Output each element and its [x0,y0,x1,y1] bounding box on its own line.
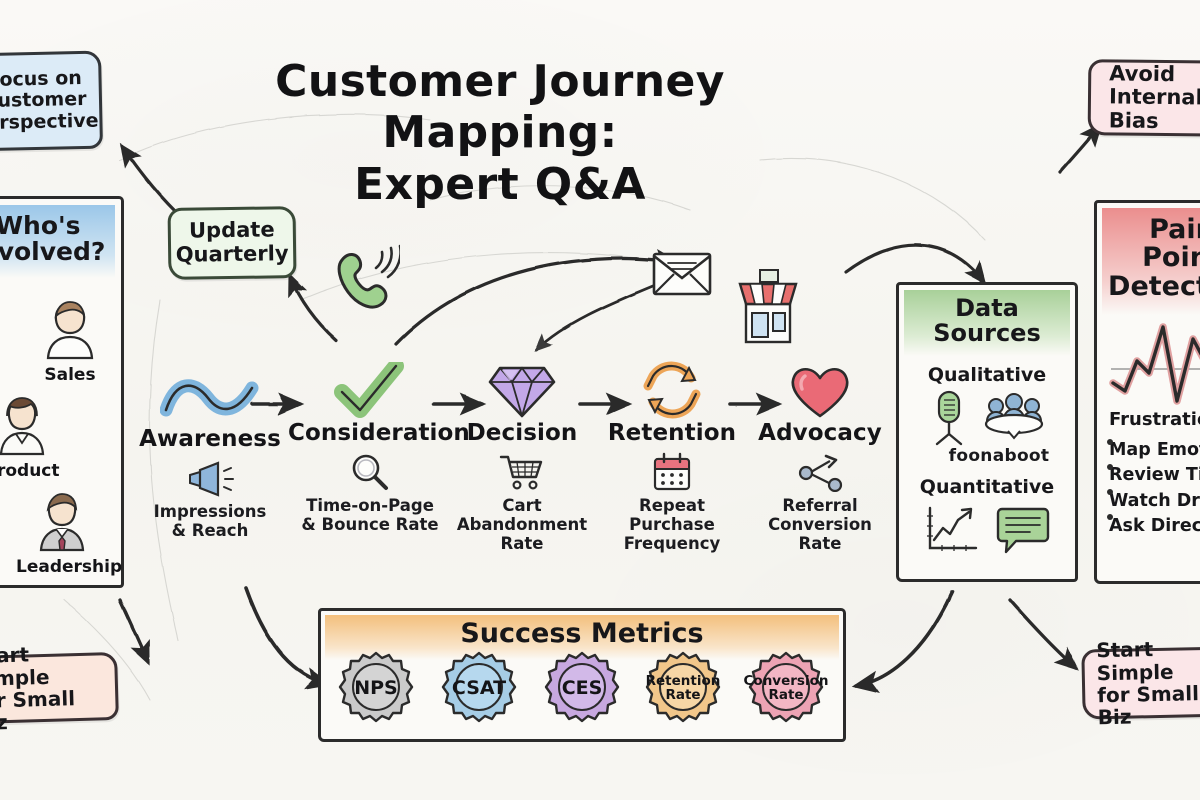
ringing-phone-icon [330,238,400,320]
pain-point-title-line-2: Detection [1108,273,1200,301]
page-title: Customer Journey Mapping: Expert Q&A [230,56,770,212]
checkmark-icon [288,362,452,420]
microphone-icon [928,390,970,448]
stage-metric: Repeat Purchase Frequency [592,496,752,553]
sticky-note-focus-customer-perspective[interactable]: Focus on Customer Perspective [0,51,103,152]
pain-point-item-list: Map Emotions Review Tickets Watch Drop-o… [1097,430,1200,540]
sticky-note-start-simple-right[interactable]: Start Simple for Small Biz [1081,646,1200,719]
sticky-note-text: Focus on Customer Perspective [0,68,99,134]
person-sales: Sales [24,294,116,385]
wave-icon [130,368,290,426]
metric-badge-ces[interactable]: CES [544,650,620,726]
pain-point-chart-caption: Frustration [1097,409,1200,430]
envelope-icon [650,244,714,300]
stage-metric: Cart Abandonment Rate [442,496,602,553]
journey-stage-decision: Decision Cart Abandonment Rate [442,362,602,553]
pain-point-panel: Pain Point Detection Frustration Map Emo… [1094,200,1200,584]
line-chart-icon [922,504,980,556]
metric-badge-conversion-rate[interactable]: Conversion Rate [748,650,824,726]
person-label: Product [0,461,68,481]
stage-name: Awareness [130,426,290,452]
pain-point-title: Pain Point Detection [1102,208,1200,315]
metric-badge-csat[interactable]: CSAT [441,650,517,726]
badge-label: CES [562,678,603,698]
calendar-icon [592,452,752,492]
who-involved-title: Who's Involved? [0,205,115,278]
sticky-note-text: Start Simple for Small Biz [0,641,116,734]
person-label: Sales [24,365,116,385]
stage-name: Advocacy [740,420,900,446]
stage-name: Decision [442,420,602,446]
person-icon [0,390,54,456]
sticky-note-avoid-internal-bias[interactable]: Avoid Internal Bias [1088,59,1200,137]
journey-stage-awareness: Awareness Impressions & Reach [130,368,290,540]
title-line-2: Expert Q&A [230,158,770,212]
stage-metric: Impressions & Reach [130,502,290,540]
pain-point-title-line-1: Pain Point [1108,216,1200,273]
pain-point-item: Watch Drop-offs [1109,489,1200,514]
storefront-icon [734,268,802,346]
whiteboard-canvas: Customer Journey Mapping: Expert Q&A Foc… [0,0,1200,800]
journey-stage-retention: Retention Repeat Purchase Frequency [592,362,752,553]
refresh-cycle-icon [592,362,752,420]
focus-group-icon [982,393,1046,445]
badge-label: CSAT [452,678,506,698]
data-sources-panel: Data Sources Qualitative [896,282,1078,582]
person-product: Product [0,390,68,481]
stage-name: Consideration [288,420,452,446]
sticky-note-text: Start Simple for Small Biz [1084,637,1200,730]
diamond-icon [442,362,602,420]
metric-badge-retention-rate[interactable]: Retention Rate [645,650,721,726]
journey-stage-advocacy: Advocacy Referral Conversion Rate [740,362,900,553]
heart-icon [740,362,900,420]
stage-name: Retention [592,420,752,446]
pain-point-item: Map Emotions [1109,438,1200,463]
journey-stage-consideration: Consideration Time-on-Page & Bounce Rate [288,362,452,534]
title-line-1: Customer Journey Mapping: [230,56,770,158]
sticky-note-text: Update Quarterly [175,219,289,268]
badge-label: NPS [354,678,398,698]
pain-point-item: Ask Directly [1109,514,1200,539]
metric-badge-nps[interactable]: NPS [338,650,414,726]
share-node-icon [740,452,900,492]
person-icon [30,486,94,552]
pain-point-item: Review Tickets [1109,463,1200,488]
data-sources-group-label-qualitative: Qualitative [899,364,1075,386]
megaphone-icon [130,458,290,498]
magnifier-icon [288,452,452,492]
person-leadership: Leadership [16,486,108,577]
sticky-note-update-quarterly[interactable]: Update Quarterly [168,206,297,280]
stage-metric: Referral Conversion Rate [740,496,900,553]
badge-label: Retention Rate [646,674,721,703]
shopping-cart-icon [442,452,602,492]
speech-bubble-icon [994,505,1052,555]
data-sources-group-label-quantitative: Quantitative [899,476,1075,498]
sticky-note-text: Avoid Internal Bias [1099,62,1200,134]
person-icon [38,294,102,360]
badge-label: Conversion Rate [744,674,829,703]
frustration-line-chart [1107,317,1200,407]
data-sources-title: Data Sources [904,290,1070,356]
data-sources-caption-garbled: foonaboot [899,446,1075,466]
stage-metric: Time-on-Page & Bounce Rate [288,496,452,534]
sticky-note-start-simple-left[interactable]: Start Simple for Small Biz [0,652,119,724]
person-label: Leadership [16,557,108,577]
